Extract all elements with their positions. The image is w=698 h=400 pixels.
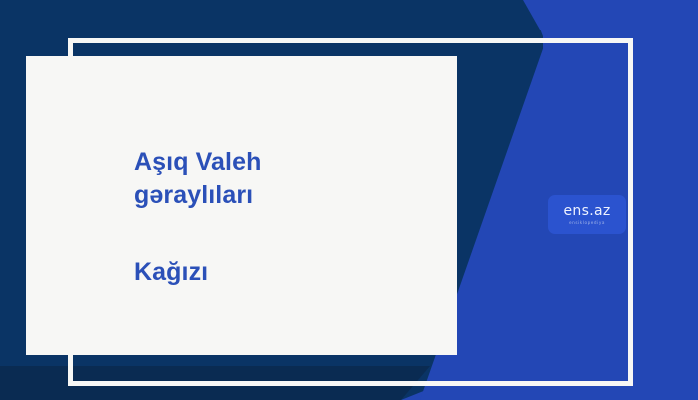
ens-az-logo-badge[interactable]: ens.az ensiklopediya (548, 195, 626, 234)
content-card: Aşıq Valeh gəraylıları Kağızı (26, 56, 457, 355)
logo-wordmark: ens.az (564, 204, 611, 218)
title-line-2: gəraylıları (134, 179, 434, 212)
card-text-block: Aşıq Valeh gəraylıları Kağızı (134, 146, 434, 289)
title-line-1: Aşıq Valeh (134, 146, 434, 179)
logo-tagline: ensiklopediya (569, 221, 605, 225)
slide-canvas: Aşıq Valeh gəraylıları Kağızı ens.az ens… (0, 0, 698, 400)
subtitle-line: Kağızı (134, 256, 434, 289)
